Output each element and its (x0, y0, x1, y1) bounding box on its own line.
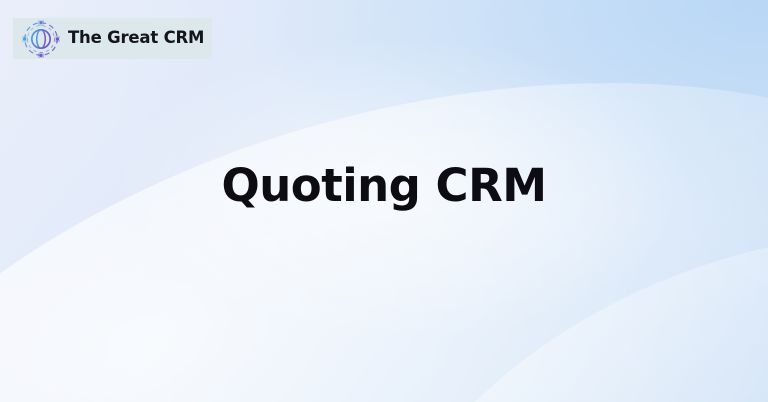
hero-banner: The Great CRM Quoting CRM (0, 0, 768, 402)
brand-logo-lockup[interactable]: The Great CRM (13, 18, 212, 59)
page-title: Quoting CRM (0, 161, 768, 211)
globe-network-icon (22, 20, 60, 58)
brand-name-label: The Great CRM (68, 30, 204, 47)
